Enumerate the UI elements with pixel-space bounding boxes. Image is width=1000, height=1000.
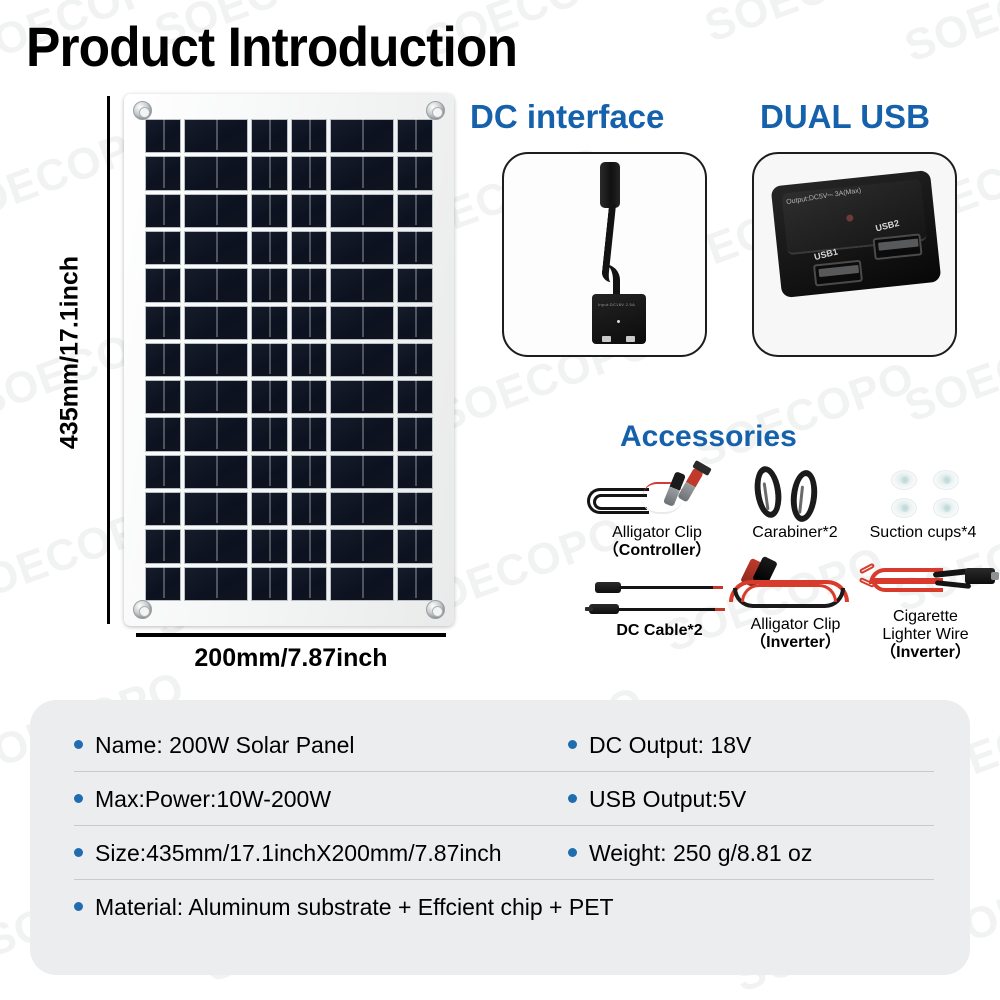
spec-dc-output: DC Output: 18V <box>560 718 970 772</box>
solar-cell <box>145 417 181 451</box>
solar-cell <box>330 455 394 489</box>
solar-cell <box>330 380 394 414</box>
spec-max-power: Max:Power:10W-200W <box>30 772 560 826</box>
width-dimension-label: 200mm/7.87inch <box>136 644 446 673</box>
solar-cell <box>330 231 394 265</box>
usb-output-spec-label: Output:DC5V⎓ 3A(Max) <box>786 187 862 207</box>
solar-cell <box>184 156 248 190</box>
solar-cell <box>397 119 433 153</box>
dc-interface-heading: DC interface <box>470 98 664 136</box>
solar-cell <box>184 529 248 563</box>
suction-cups-icon <box>843 462 1000 524</box>
solar-cell <box>145 380 181 414</box>
solar-cell <box>184 268 248 302</box>
solar-cell <box>145 268 181 302</box>
spec-text: Material: Aluminum substrate + Effcient … <box>95 894 614 921</box>
solar-cell <box>145 492 181 526</box>
grommet-bottom-left <box>133 600 152 619</box>
accessory-alligator-clip-inverter: Alligator Clip （Inverter） <box>723 558 868 652</box>
solar-cell <box>184 194 248 228</box>
accessory-alligator-clip-controller: Alligator Clip （Controller） <box>573 462 741 560</box>
spec-text: Size:435mm/17.1inchX200mm/7.87inch <box>95 840 502 867</box>
solar-cell <box>251 306 287 340</box>
solar-cell <box>330 492 394 526</box>
dc-barrel-plug-icon <box>600 162 620 208</box>
width-dimension-line <box>136 633 446 637</box>
spec-name: Name: 200W Solar Panel <box>30 718 560 772</box>
solar-cell <box>251 194 287 228</box>
solar-cell <box>330 194 394 228</box>
bullet-icon <box>74 740 83 749</box>
grommet-bottom-right <box>426 600 445 619</box>
solar-cell <box>291 194 327 228</box>
solar-cell <box>397 529 433 563</box>
solar-cell <box>291 455 327 489</box>
solar-cell <box>397 455 433 489</box>
dc-box-label: Input:DC18V 2.5A <box>598 302 635 307</box>
solar-cell <box>145 119 181 153</box>
solar-cell <box>251 156 287 190</box>
accessory-label-line2: Lighter Wire <box>853 626 998 644</box>
solar-cell <box>397 380 433 414</box>
solar-cell <box>251 380 287 414</box>
accessories-section: Accessories Alligator Clip （Controller） … <box>575 420 1000 685</box>
spec-size: Size:435mm/17.1inchX200mm/7.87inch <box>30 826 560 880</box>
solar-panel-figure: 435mm/17.1inch 200mm/7.87inch <box>0 88 480 688</box>
solar-cell <box>291 529 327 563</box>
accessory-label-line1: DC Cable*2 <box>577 622 742 640</box>
spec-text: USB Output:5V <box>589 786 746 813</box>
spec-usb-output: USB Output:5V <box>560 772 970 826</box>
bullet-icon <box>568 794 577 803</box>
accessory-label-line2: （Inverter） <box>723 634 868 652</box>
solar-cell <box>145 306 181 340</box>
dual-usb-photo: Output:DC5V⎓ 3A(Max) USB1 USB2 <box>752 152 957 357</box>
solar-cell <box>397 268 433 302</box>
solar-cell <box>251 492 287 526</box>
solar-cell <box>291 306 327 340</box>
solar-cell <box>145 529 181 563</box>
solar-cell <box>184 455 248 489</box>
page-title: Product Introduction <box>26 14 517 79</box>
watermark-text: SOECOPO <box>698 0 931 53</box>
watermark-text: SOECOPO <box>898 0 1000 73</box>
solar-cell <box>330 306 394 340</box>
accessory-label-line2: （Controller） <box>573 542 741 560</box>
spec-row: Max:Power:10W-200W USB Output:5V <box>30 772 970 826</box>
solar-cell <box>397 231 433 265</box>
spec-weight: Weight: 250 g/8.81 oz <box>560 826 970 880</box>
grommet-top-left <box>133 101 152 120</box>
grommet-top-right <box>426 101 445 120</box>
dc-junction-box: Input:DC18V 2.5A <box>592 294 646 344</box>
solar-cell <box>184 306 248 340</box>
usb-port-1 <box>813 260 863 287</box>
spec-material: Material: Aluminum substrate + Effcient … <box>30 880 970 934</box>
solar-cell <box>251 119 287 153</box>
solar-cell-grid <box>145 119 433 601</box>
spec-text: DC Output: 18V <box>589 732 751 759</box>
spec-row: Name: 200W Solar Panel DC Output: 18V <box>30 718 970 772</box>
solar-cell <box>291 380 327 414</box>
solar-cell <box>184 343 248 377</box>
accessory-cigarette-lighter-wire: Cigarette Lighter Wire （Inverter） <box>853 558 998 662</box>
dc-contact-left <box>602 336 611 342</box>
solar-cell <box>330 529 394 563</box>
bullet-icon <box>74 902 83 911</box>
solar-cell <box>184 492 248 526</box>
solar-panel-image <box>124 94 454 626</box>
accessory-label-line1: Suction cups*4 <box>843 524 1000 542</box>
accessory-dc-cable: DC Cable*2 <box>577 570 742 640</box>
spec-row: Material: Aluminum substrate + Effcient … <box>30 880 970 934</box>
accessory-label-line1: Cigarette <box>853 608 998 626</box>
solar-cell <box>145 567 181 601</box>
solar-cell <box>330 119 394 153</box>
dual-usb-heading: DUAL USB <box>760 98 930 136</box>
usb-hub-body: Output:DC5V⎓ 3A(Max) USB1 USB2 <box>771 170 942 298</box>
solar-cell <box>291 268 327 302</box>
solar-cell <box>291 343 327 377</box>
solar-cell <box>251 529 287 563</box>
solar-cell <box>291 567 327 601</box>
solar-cell <box>251 417 287 451</box>
dc-cable-icon <box>577 570 742 622</box>
usb-port-2 <box>873 233 923 260</box>
solar-cell <box>145 343 181 377</box>
accessory-label-line1: Alligator Clip <box>723 616 868 634</box>
solar-cell <box>251 455 287 489</box>
spec-text: Max:Power:10W-200W <box>95 786 331 813</box>
solar-cell <box>291 417 327 451</box>
solar-cell <box>251 268 287 302</box>
solar-cell <box>251 343 287 377</box>
solar-cell <box>397 156 433 190</box>
accessory-suction-cups: Suction cups*4 <box>843 462 1000 542</box>
bullet-icon <box>74 794 83 803</box>
accessories-heading: Accessories <box>620 420 797 454</box>
solar-cell <box>184 119 248 153</box>
solar-cell <box>397 417 433 451</box>
dc-interface-photo: Input:DC18V 2.5A <box>502 152 707 357</box>
solar-cell <box>291 492 327 526</box>
solar-cell <box>330 343 394 377</box>
solar-cell <box>397 306 433 340</box>
solar-cell <box>184 231 248 265</box>
solar-cell <box>145 455 181 489</box>
solar-cell <box>145 231 181 265</box>
solar-cell <box>397 194 433 228</box>
bullet-icon <box>568 848 577 857</box>
solar-cell <box>397 567 433 601</box>
height-dimension-label: 435mm/17.1inch <box>56 243 85 463</box>
spec-row: Size:435mm/17.1inchX200mm/7.87inch Weigh… <box>30 826 970 880</box>
alligator-clip-inverter-icon <box>723 558 868 616</box>
solar-cell <box>184 567 248 601</box>
solar-cell <box>251 231 287 265</box>
solar-cell <box>397 492 433 526</box>
solar-cell <box>145 156 181 190</box>
dc-contact-right <box>626 336 635 342</box>
accessory-label-line3: （Inverter） <box>853 644 998 662</box>
dc-led-indicator <box>617 320 620 323</box>
alligator-clip-controller-icon <box>573 462 741 524</box>
bullet-icon <box>568 740 577 749</box>
solar-cell <box>291 156 327 190</box>
solar-cell <box>251 567 287 601</box>
specifications-panel: Name: 200W Solar Panel DC Output: 18V Ma… <box>30 700 970 975</box>
solar-cell <box>184 417 248 451</box>
solar-cell <box>330 417 394 451</box>
spec-text: Weight: 250 g/8.81 oz <box>589 840 812 867</box>
cigarette-lighter-wire-icon <box>853 558 998 608</box>
solar-cell <box>184 380 248 414</box>
solar-cell <box>330 268 394 302</box>
height-dimension-line <box>107 96 110 624</box>
solar-cell <box>291 231 327 265</box>
solar-cell <box>291 119 327 153</box>
solar-cell <box>330 156 394 190</box>
spec-text: Name: 200W Solar Panel <box>95 732 355 759</box>
solar-cell <box>330 567 394 601</box>
solar-cell <box>145 194 181 228</box>
accessory-label-line1: Alligator Clip <box>573 524 741 542</box>
solar-cell <box>397 343 433 377</box>
bullet-icon <box>74 848 83 857</box>
